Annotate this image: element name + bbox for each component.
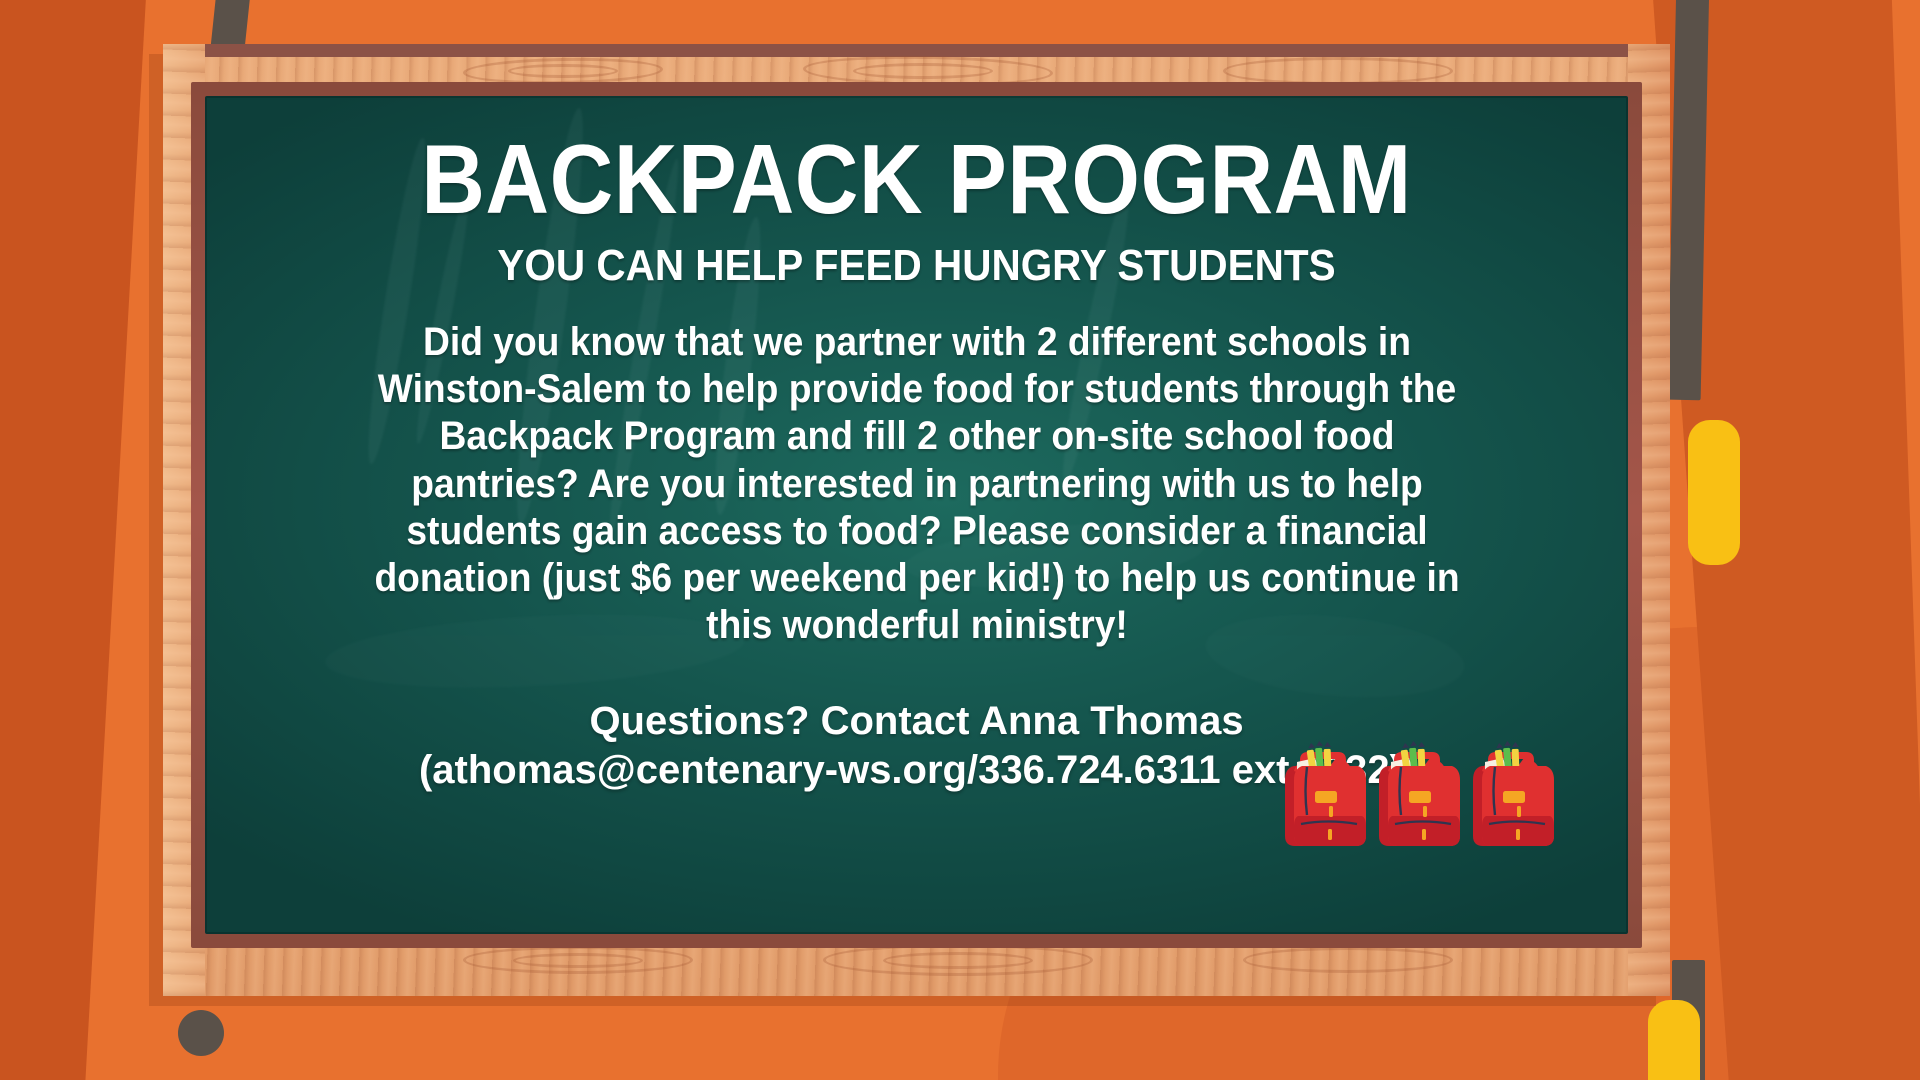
pencil-cap-right [1688,420,1740,565]
page-title: BACKPACK PROGRAM [363,130,1471,230]
body-paragraph: Did you know that we partner with 2 diff… [359,319,1475,649]
wood-grain-knot [508,64,618,78]
wood-grain-knot [1223,57,1453,85]
backpack-icon [1374,736,1460,854]
pencil-cap-bottom-right [1648,1000,1700,1080]
wood-grain-knot [513,953,643,968]
page-subtitle: YOU CAN HELP FEED HUNGRY STUDENTS [350,238,1483,293]
backpack-icon [1468,736,1554,854]
backpack-icon [1280,736,1366,854]
chalkboard: BACKPACK PROGRAM YOU CAN HELP FEED HUNGR… [163,44,1670,996]
wood-grain-knot [1243,947,1453,973]
slide-content: BACKPACK PROGRAM YOU CAN HELP FEED HUNGR… [205,96,1628,795]
chalk-surface: BACKPACK PROGRAM YOU CAN HELP FEED HUNGR… [205,96,1628,934]
contact-question-line: Questions? Contact Anna Thomas [589,699,1243,743]
wood-grain-knot [853,63,993,79]
backpack-illustration-group [1280,736,1554,854]
slide-canvas: BACKPACK PROGRAM YOU CAN HELP FEED HUNGR… [0,0,1920,1080]
peg-bottom-left [178,1010,224,1056]
wood-grain-knot [883,952,1033,969]
wall-shadow-left [0,0,150,1080]
